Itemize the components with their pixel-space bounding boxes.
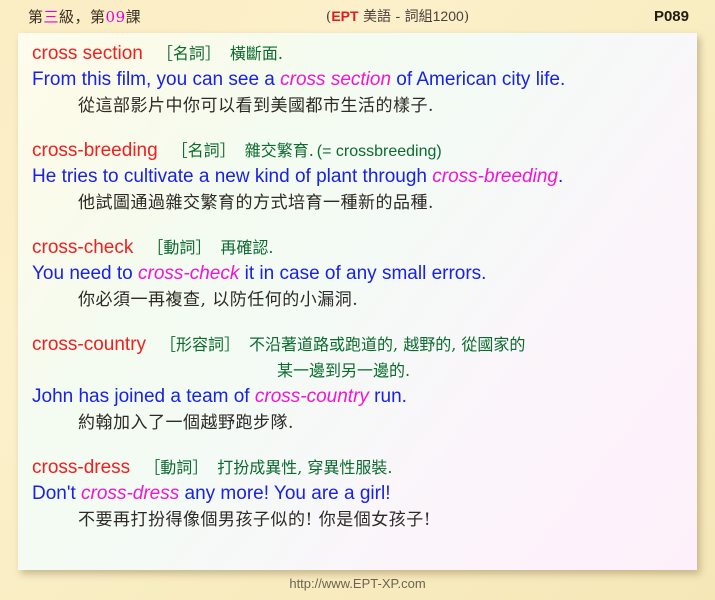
translation: 不要再打扮得像個男孩子似的! 你是個女孩子! <box>78 510 431 530</box>
vocabulary-panel: cross section［名詞］橫斷面. From this film, yo… <box>18 33 697 570</box>
definition-continuation: 某一邊到另一邊的. <box>32 358 683 384</box>
entry-spacer <box>32 125 683 138</box>
part-of-speech: ［名詞］ <box>157 44 221 63</box>
entry-headword-line: cross-breeding［名詞］雜交繁育.(= crossbreeding) <box>32 138 683 164</box>
book-title: (EPT 美語 - 詞組1200) <box>141 6 654 26</box>
page-header: 第三級，第09課 (EPT 美語 - 詞組1200) P089 <box>0 0 715 32</box>
headword: cross-dress <box>32 457 130 478</box>
entry-headword-line: cross section［名詞］橫斷面. <box>32 41 683 67</box>
entry-example-line: John has joined a team of cross-country … <box>32 384 683 410</box>
entry-definition-continuation-line: 某一邊到另一邊的. <box>32 358 683 384</box>
headword: cross-country <box>32 334 146 355</box>
example-sentence: You need to cross-check it in case of an… <box>32 263 486 284</box>
part-of-speech: ［動詞］ <box>144 458 208 477</box>
lesson-label-mid: 級，第 <box>59 8 106 26</box>
entry-spacer <box>32 442 683 455</box>
brand-name: EPT <box>331 8 358 24</box>
example-post: any more! You are a girl! <box>179 483 390 504</box>
lesson-number-value: 09 <box>106 8 126 26</box>
entry-spacer <box>32 319 683 332</box>
example-emphasis: cross-country <box>255 386 369 407</box>
example-post: it in case of any small errors. <box>239 263 486 284</box>
lesson-label: 第三級，第09課 <box>28 6 141 27</box>
vocabulary-entry: cross section［名詞］橫斷面. From this film, yo… <box>32 41 683 119</box>
entry-spacer <box>32 222 683 235</box>
book-title-close-paren: ) <box>464 9 469 25</box>
example-emphasis: cross section <box>280 69 391 90</box>
entry-example-line: He tries to cultivate a new kind of plan… <box>32 164 683 190</box>
entry-translation-line: 從這部影片中你可以看到美國都市生活的樣子. <box>32 93 683 119</box>
part-of-speech: ［名詞］ <box>172 141 236 160</box>
lesson-label-prefix: 第 <box>28 8 44 26</box>
example-pre: Don't <box>32 483 81 504</box>
vocabulary-entry: cross-country［形容詞］不沿著道路或跑道的, 越野的, 從國家的 某… <box>32 332 683 436</box>
example-pre: From this film, you can see a <box>32 69 280 90</box>
example-sentence: From this film, you can see a cross sect… <box>32 69 565 90</box>
example-pre: You need to <box>32 263 138 284</box>
footer-url[interactable]: http://www.EPT-XP.com <box>0 576 715 591</box>
translation: 從這部影片中你可以看到美國都市生活的樣子. <box>78 96 434 116</box>
example-sentence: Don't cross-dress any more! You are a gi… <box>32 483 390 504</box>
example-post: run. <box>369 386 407 407</box>
translation: 約翰加入了一個越野跑步隊. <box>78 413 294 433</box>
example-sentence: He tries to cultivate a new kind of plan… <box>32 166 563 187</box>
entry-example-line: You need to cross-check it in case of an… <box>32 261 683 287</box>
entry-example-line: From this film, you can see a cross sect… <box>32 67 683 93</box>
page-number: P089 <box>654 8 689 25</box>
example-post: . <box>558 166 563 187</box>
entry-headword-line: cross-check［動詞］再確認. <box>32 235 683 261</box>
example-pre: John has joined a team of <box>32 386 255 407</box>
example-pre: He tries to cultivate a new kind of plan… <box>32 166 432 187</box>
definition: 再確認. <box>220 238 273 257</box>
definition: 打扮成異性, 穿異性服裝. <box>217 458 392 477</box>
lesson-label-suffix: 課 <box>126 8 142 26</box>
translation: 你必須一再複查, 以防任何的小漏洞. <box>78 290 358 310</box>
definition: 橫斷面. <box>230 44 283 63</box>
vocabulary-entry: cross-check［動詞］再確認. You need to cross-ch… <box>32 235 683 313</box>
entry-translation-line: 他試圖通過雜交繁育的方式培育一種新的品種. <box>32 190 683 216</box>
entry-translation-line: 不要再打扮得像個男孩子似的! 你是個女孩子! <box>32 507 683 533</box>
entry-translation-line: 約翰加入了一個越野跑步隊. <box>32 410 683 436</box>
lesson-level-value: 三 <box>44 8 60 26</box>
part-of-speech: ［形容詞］ <box>160 335 240 354</box>
definition: 不沿著道路或跑道的, 越野的, 從國家的 <box>249 335 525 354</box>
example-emphasis: cross-check <box>138 263 239 284</box>
example-post: of American city life. <box>391 69 565 90</box>
entry-headword-line: cross-country［形容詞］不沿著道路或跑道的, 越野的, 從國家的 <box>32 332 683 358</box>
headword: cross-breeding <box>32 140 158 161</box>
example-sentence: John has joined a team of cross-country … <box>32 386 407 407</box>
book-title-text: 美語 - 詞組 <box>359 9 433 25</box>
entry-headword-line: cross-dress［動詞］打扮成異性, 穿異性服裝. <box>32 455 683 481</box>
translation: 他試圖通過雜交繁育的方式培育一種新的品種. <box>78 193 434 213</box>
example-emphasis: cross-dress <box>81 483 179 504</box>
vocabulary-entry: cross-breeding［名詞］雜交繁育.(= crossbreeding)… <box>32 138 683 216</box>
alternate-spelling: (= crossbreeding) <box>317 143 442 160</box>
vocabulary-entry: cross-dress［動詞］打扮成異性, 穿異性服裝. Don't cross… <box>32 455 683 533</box>
part-of-speech: ［動詞］ <box>147 238 211 257</box>
entry-example-line: Don't cross-dress any more! You are a gi… <box>32 481 683 507</box>
book-title-number: 1200 <box>433 8 464 24</box>
definition: 雜交繁育. <box>245 141 314 160</box>
headword: cross section <box>32 43 143 64</box>
entry-translation-line: 你必須一再複查, 以防任何的小漏洞. <box>32 287 683 313</box>
example-emphasis: cross-breeding <box>432 166 558 187</box>
headword: cross-check <box>32 237 133 258</box>
